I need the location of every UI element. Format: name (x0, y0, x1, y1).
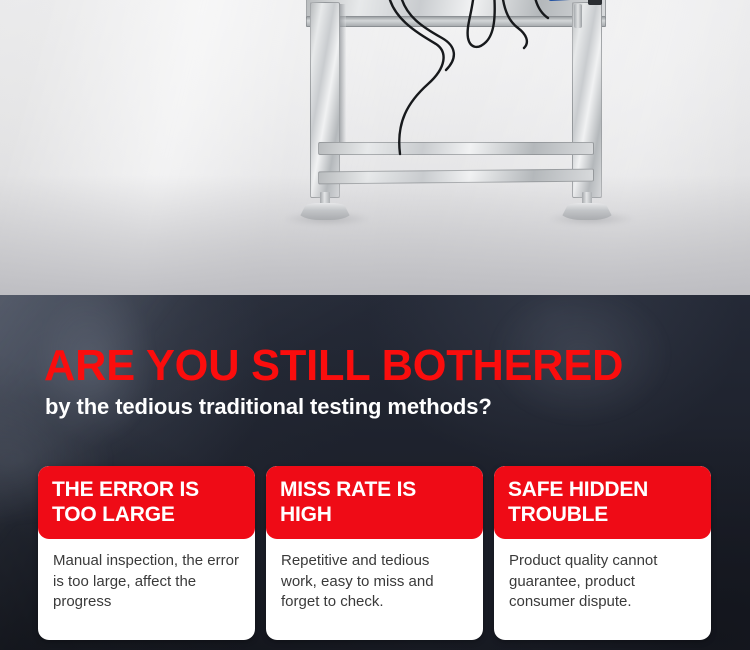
air-regulator-valve (574, 4, 582, 28)
promo-headline: ARE YOU STILL BOTHERED (44, 344, 623, 388)
machine-frame-illustration (296, 0, 616, 222)
pain-point-card[interactable]: MISS RATE IS HIGH Repetitive and tedious… (266, 466, 483, 640)
promo-page: ARE YOU STILL BOTHERED by the tedious tr… (0, 0, 750, 650)
adjustable-foot-left (298, 192, 352, 220)
foot-pad-right (560, 203, 614, 220)
card-title: MISS RATE IS HIGH (266, 466, 483, 539)
pain-point-card-list: THE ERROR IS TOO LARGE Manual inspection… (38, 466, 712, 640)
machine-leg-left (310, 2, 340, 198)
card-body-text: Product quality cannot guarantee, produc… (494, 539, 711, 640)
pain-point-card[interactable]: THE ERROR IS TOO LARGE Manual inspection… (38, 466, 255, 640)
machine-cross-brace-upper (318, 142, 594, 155)
card-body-text: Manual inspection, the error is too larg… (38, 539, 255, 640)
foot-pad-left (298, 203, 352, 220)
promo-subheadline: by the tedious traditional testing metho… (45, 394, 492, 420)
machine-cross-brace-lower (318, 169, 594, 185)
machine-inner-edge (340, 4, 346, 154)
card-body-text: Repetitive and tedious work, easy to mis… (266, 539, 483, 640)
machine-top-beam-lower (306, 16, 606, 27)
pain-point-card[interactable]: SAFE HIDDEN TROUBLE Product quality cann… (494, 466, 711, 640)
card-title: SAFE HIDDEN TROUBLE (494, 466, 711, 539)
card-title: THE ERROR IS TOO LARGE (38, 466, 255, 539)
black-connector-box (588, 0, 602, 5)
adjustable-foot-right (560, 192, 614, 220)
product-photo-section (0, 0, 750, 295)
